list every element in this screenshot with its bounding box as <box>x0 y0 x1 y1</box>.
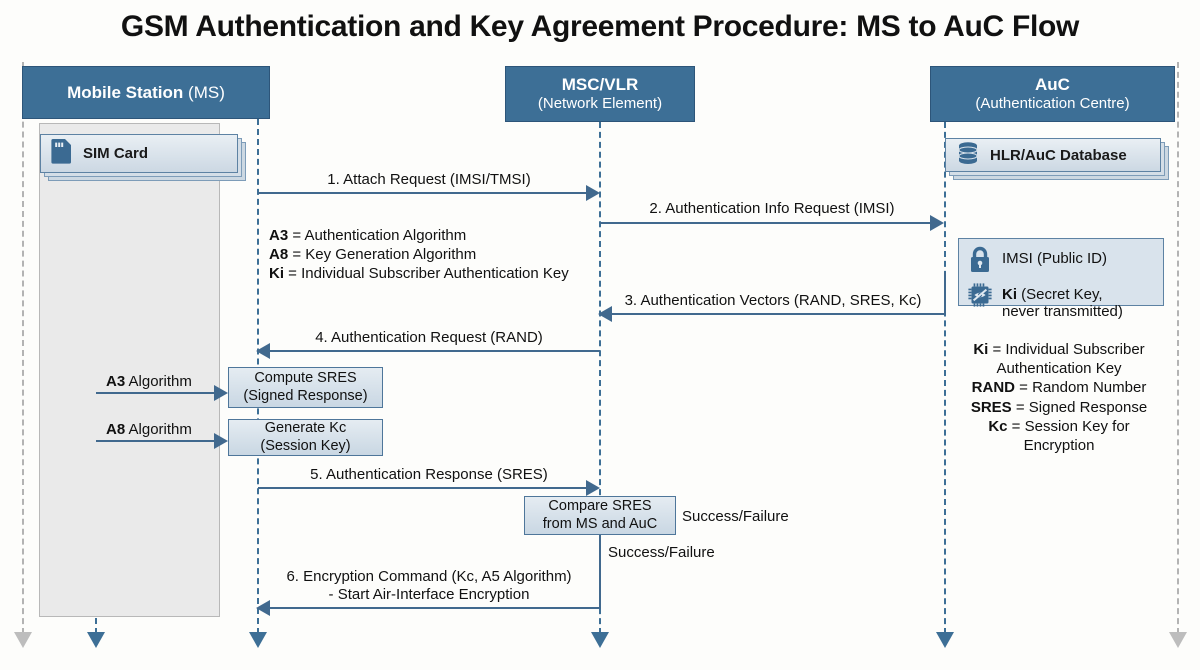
auc-credential-imsi: IMSI (Public ID) <box>967 246 1155 278</box>
actor-msc-title: MSC/VLR <box>562 75 639 95</box>
auc-credential-imsi-text: IMSI (Public ID) <box>1002 246 1107 267</box>
a8-algorithm-label: A8 Algorithm <box>106 421 192 439</box>
message-3-arrowhead <box>598 306 612 322</box>
hlr-auc-database-component[interactable]: HLR/AuC Database <box>945 138 1161 172</box>
sim-card-label: SIM Card <box>83 145 148 162</box>
message-4-arrow-line <box>268 350 600 352</box>
hlr-db-label: HLR/AuC Database <box>990 147 1127 164</box>
lock-icon <box>967 246 993 278</box>
generate-kc-line-1: Generate Kc <box>265 420 346 437</box>
message-2-arrow-line <box>600 222 932 224</box>
process-box-generate-kc[interactable]: Generate Kc (Session Key) <box>228 419 383 456</box>
actor-auc-subtitle: (Authentication Centre) <box>975 95 1129 112</box>
a8-algorithm-arrowhead <box>214 433 228 449</box>
compute-sres-line-1: Compute SRES <box>254 370 356 387</box>
actor-msc-subtitle: (Network Element) <box>538 95 662 112</box>
auc-legend-line-1: Ki = Individual Subscriber <box>948 340 1170 359</box>
sim-card-face: SIM Card <box>40 134 238 173</box>
message-1-arrowhead <box>586 185 600 201</box>
a3-algorithm-arrow-line <box>96 392 216 394</box>
status-label-success-failure-below: Success/Failure <box>608 544 715 562</box>
process-box-compare-sres[interactable]: Compare SRES from MS and AuC <box>524 496 676 535</box>
sim-card-component[interactable]: SIM Card <box>40 134 238 173</box>
message-3-arrow-line <box>610 313 946 315</box>
page-title: GSM Authentication and Key Agreement Pro… <box>0 10 1200 44</box>
message-2-label: 2. Authentication Info Request (IMSI) <box>600 200 944 218</box>
lifeline-ms-boundary-left <box>22 62 24 634</box>
message-6-label: 6. Encryption Command (Kc, A5 Algorithm)… <box>258 568 600 604</box>
actor-header-msc-vlr[interactable]: MSC/VLR (Network Element) <box>505 66 695 122</box>
ms-legend-line-3: Ki = Individual Subscriber Authenticatio… <box>269 264 569 283</box>
a3-algorithm-arrowhead <box>214 385 228 401</box>
message-1-label: 1. Attach Request (IMSI/TMSI) <box>258 171 600 189</box>
ms-legend: A3 = Authentication Algorithm A8 = Key G… <box>269 226 569 284</box>
lifeline-end-arrow-sim <box>87 632 105 648</box>
message-2-arrowhead <box>930 215 944 231</box>
diagram-canvas: GSM Authentication and Key Agreement Pro… <box>0 0 1200 670</box>
message-1-arrow-line <box>258 192 588 194</box>
message-6-arrow-line <box>268 607 601 609</box>
status-label-success-failure-right: Success/Failure <box>682 508 789 526</box>
actor-header-mobile-station[interactable]: Mobile Station (MS) <box>22 66 270 119</box>
lifeline-end-arrow-auc <box>936 632 954 648</box>
generate-kc-line-2: (Session Key) <box>260 438 350 455</box>
actor-auc-title: AuC <box>1035 75 1070 95</box>
compare-sres-line-1: Compare SRES <box>548 498 651 515</box>
auc-credential-panel: IMSI (Public ID) <box>958 238 1164 306</box>
auc-legend-line-6: Encryption <box>948 436 1170 455</box>
message-6-label-line-1: 6. Encryption Command (Kc, A5 Algorithm) <box>258 568 600 586</box>
a3-algorithm-label: A3 Algorithm <box>106 373 192 391</box>
mobile-station-container <box>39 123 220 617</box>
auc-legend: Ki = Individual Subscriber Authenticatio… <box>948 340 1170 455</box>
hlr-db-face: HLR/AuC Database <box>945 138 1161 172</box>
message-4-label: 4. Authentication Request (RAND) <box>258 329 600 347</box>
lifeline-auc <box>944 122 946 634</box>
message-5-arrowhead <box>586 480 600 496</box>
message-3-label: 3. Authentication Vectors (RAND, SRES, K… <box>600 292 946 310</box>
auc-credential-ki: Ki (Secret Key, never transmitted) <box>967 282 1155 321</box>
database-icon <box>956 141 980 170</box>
lifeline-end-arrow-ms <box>249 632 267 648</box>
lifeline-end-arrow-ms-boundary-left <box>14 632 32 648</box>
auc-legend-line-4: SRES = Signed Response <box>948 398 1170 417</box>
lifeline-end-arrow-msc <box>591 632 609 648</box>
message-6-label-line-2: - Start Air-Interface Encryption <box>258 586 600 604</box>
sim-card-icon <box>51 138 73 169</box>
lifeline-auc-boundary-right <box>1177 62 1179 634</box>
auc-legend-line-2: Authentication Key <box>948 359 1170 378</box>
compute-sres-line-2: (Signed Response) <box>243 388 367 405</box>
message-5-label: 5. Authentication Response (SRES) <box>258 466 600 484</box>
message-6-arrowhead <box>256 600 270 616</box>
process-box-compute-sres[interactable]: Compute SRES (Signed Response) <box>228 367 383 408</box>
chip-secret-icon <box>967 282 993 314</box>
lifeline-end-arrow-auc-boundary-right <box>1169 632 1187 648</box>
auc-legend-line-3: RAND = Random Number <box>948 378 1170 397</box>
actor-ms-title: Mobile Station (MS) <box>67 83 225 103</box>
a8-algorithm-arrow-line <box>96 440 216 442</box>
message-4-arrowhead <box>256 343 270 359</box>
ms-legend-line-1: A3 = Authentication Algorithm <box>269 226 569 245</box>
auc-legend-line-5: Kc = Session Key for <box>948 417 1170 436</box>
message-5-arrow-line <box>258 487 588 489</box>
ms-legend-line-2: A8 = Key Generation Algorithm <box>269 245 569 264</box>
auc-credential-ki-text: Ki (Secret Key, never transmitted) <box>1002 282 1123 321</box>
compare-sres-line-2: from MS and AuC <box>543 516 657 533</box>
actor-header-auc[interactable]: AuC (Authentication Centre) <box>930 66 1175 122</box>
